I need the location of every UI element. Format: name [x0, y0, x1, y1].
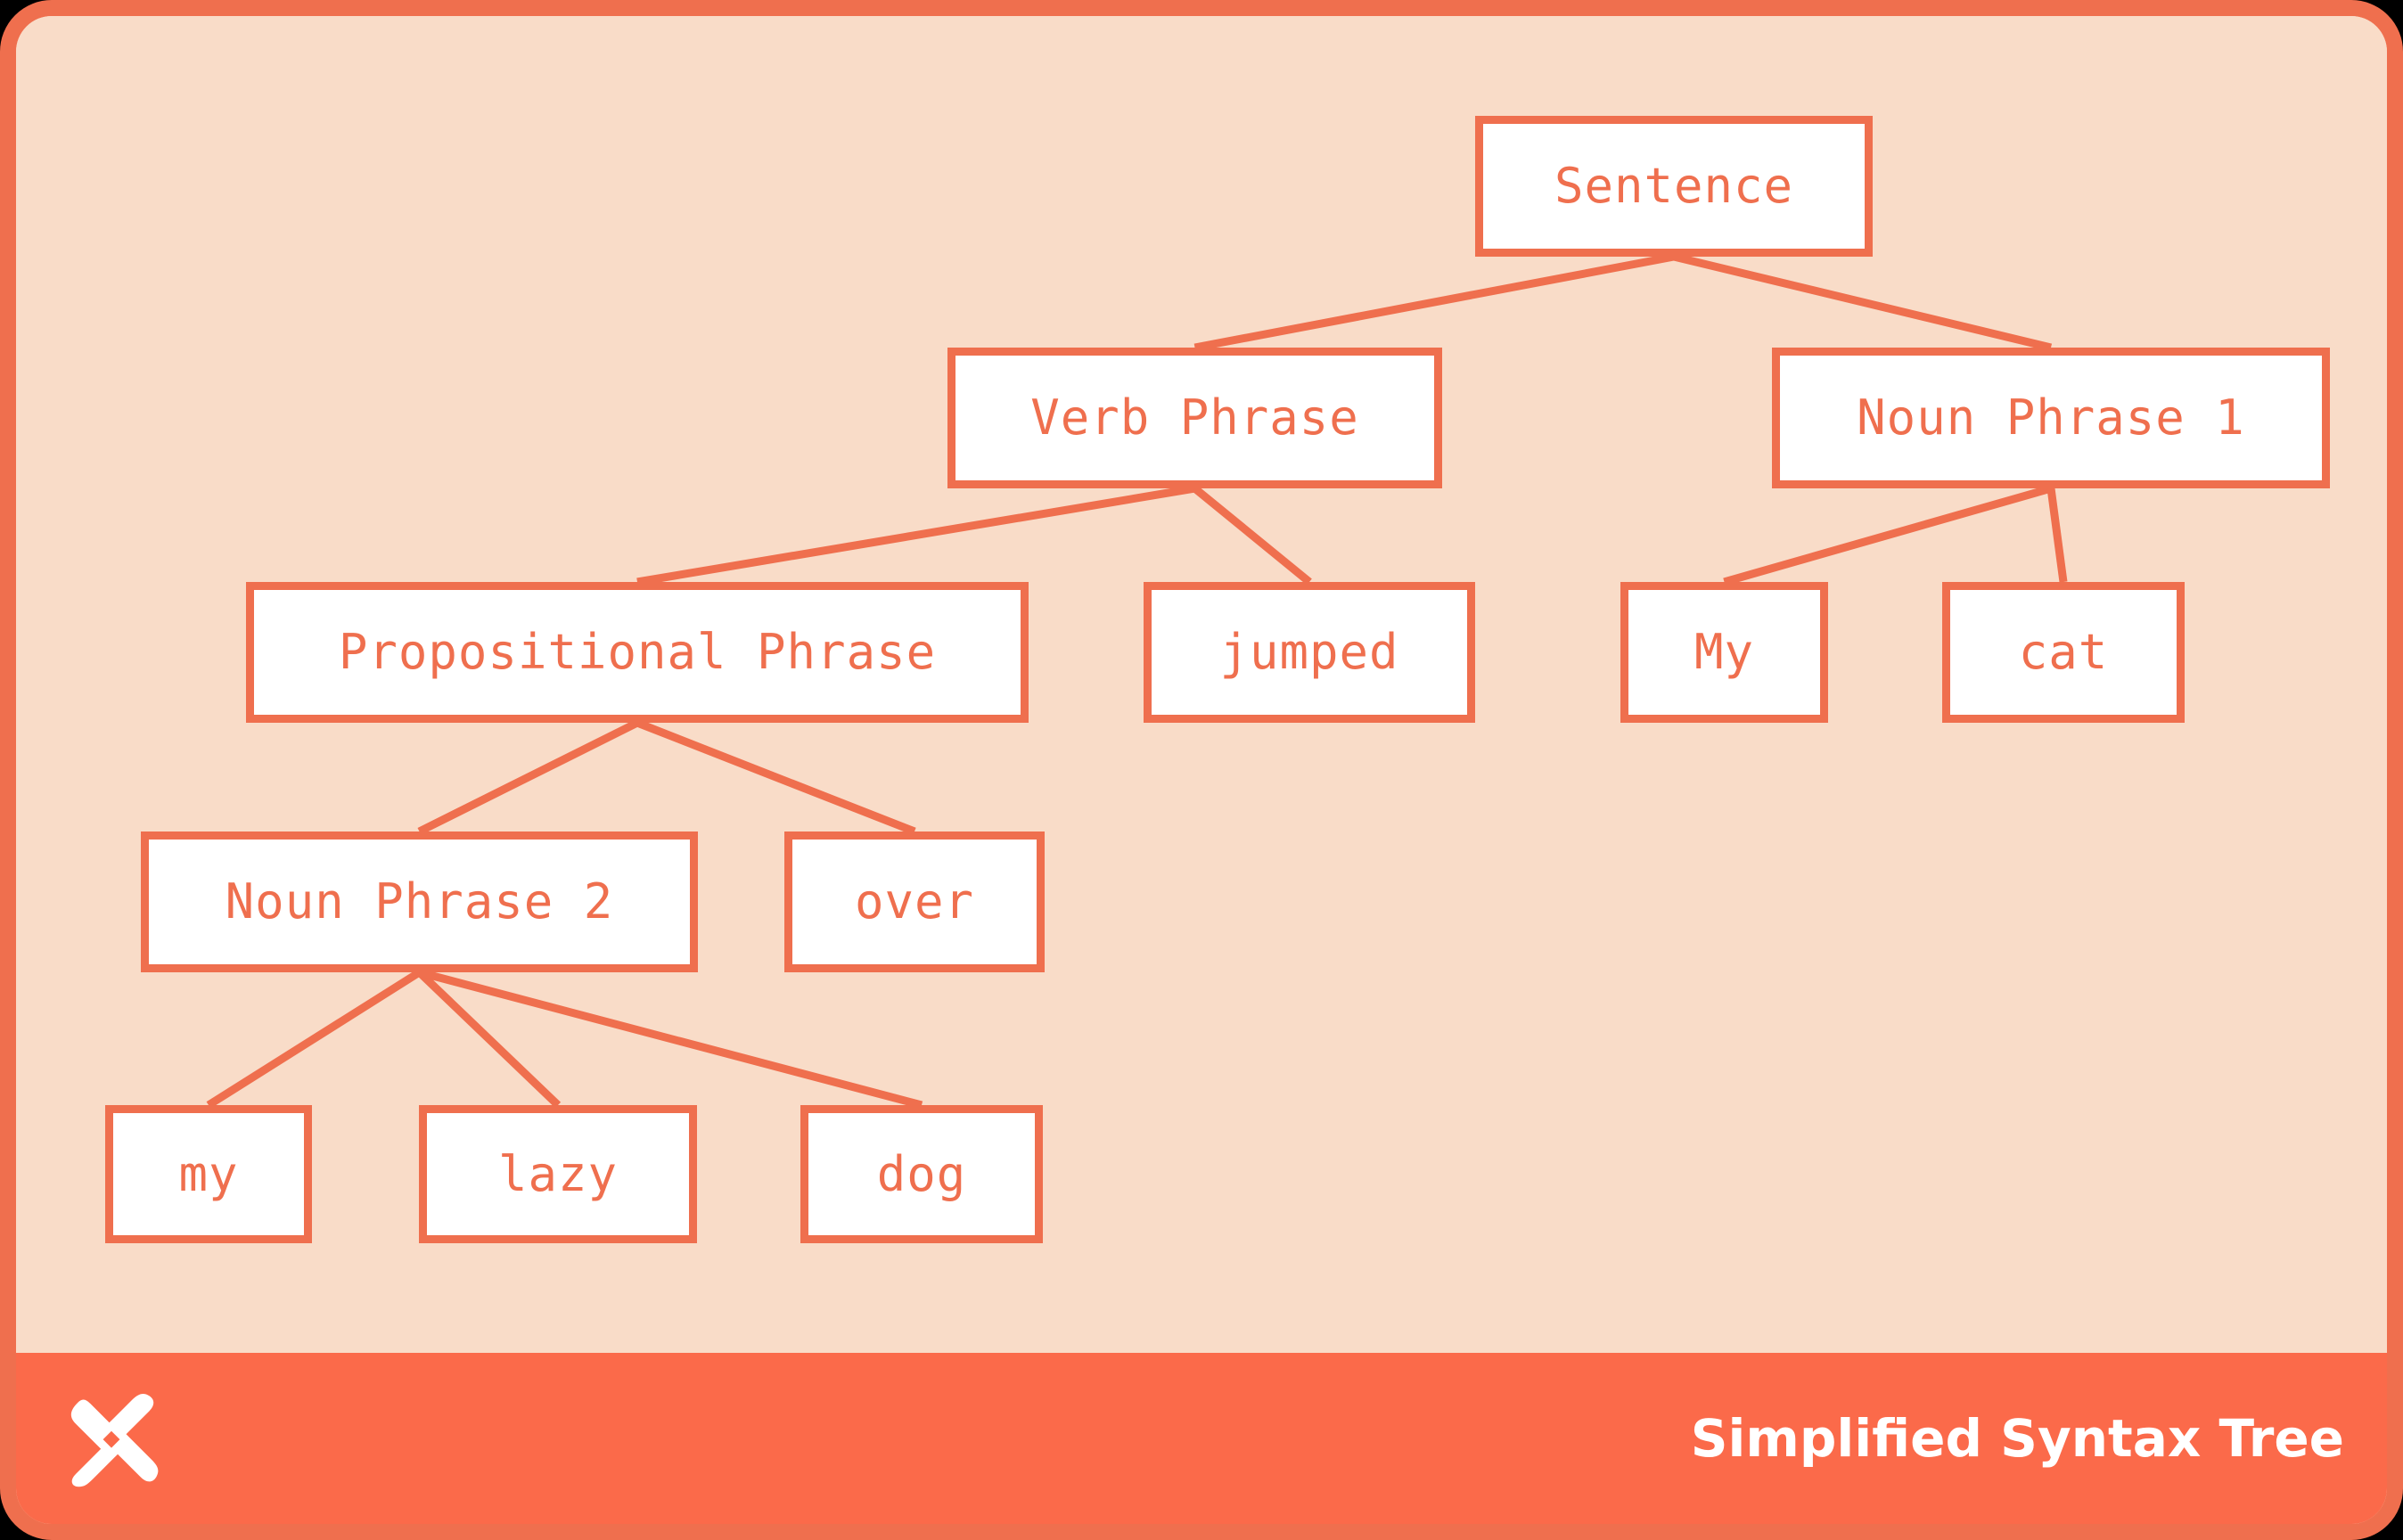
tree-edge-noun_phrase_2-to-my_leaf: [209, 972, 420, 1105]
tree-edge-noun_phrase_2-to-dog: [420, 972, 923, 1105]
tree-node-my_leaf[interactable]: my: [105, 1105, 312, 1243]
footer-brand-bar: Simplified Syntax Tree: [16, 1353, 2387, 1524]
tree-node-lazy[interactable]: lazy: [419, 1105, 697, 1243]
tree-node-my_det[interactable]: My: [1620, 582, 1828, 723]
tree-edge-propositional_phrase-to-noun_phrase_2: [420, 723, 638, 831]
tree-edge-sentence-to-noun_phrase_1: [1674, 257, 2051, 348]
tree-edge-noun_phrase_1-to-my_det: [1725, 488, 2052, 582]
tree-node-label: lazy: [498, 1151, 618, 1199]
tree-node-label: Sentence: [1554, 162, 1793, 210]
tree-node-label: Propositional Phrase: [339, 628, 936, 676]
tree-node-sentence[interactable]: Sentence: [1475, 116, 1873, 257]
tree-edge-verb_phrase-to-propositional_phrase: [637, 488, 1195, 582]
tree-edge-verb_phrase-to-jumped: [1195, 488, 1310, 582]
brand-x-logo-icon: [59, 1386, 164, 1491]
footer-title: Simplified Syntax Tree: [1691, 1408, 2344, 1469]
screenshot-canvas: SentenceVerb PhraseNoun Phrase 1Proposit…: [0, 0, 2403, 1540]
tree-node-label: Verb Phrase: [1030, 394, 1359, 442]
diagram-card: SentenceVerb PhraseNoun Phrase 1Proposit…: [0, 0, 2403, 1540]
tree-node-label: over: [855, 878, 974, 926]
tree-node-label: Noun Phrase 2: [226, 878, 614, 926]
tree-edge-sentence-to-verb_phrase: [1195, 257, 1675, 348]
tree-node-over[interactable]: over: [784, 831, 1045, 972]
tree-node-noun_phrase_2[interactable]: Noun Phrase 2: [141, 831, 698, 972]
tree-node-noun_phrase_1[interactable]: Noun Phrase 1: [1772, 348, 2330, 488]
tree-node-dog[interactable]: dog: [800, 1105, 1043, 1243]
tree-edge-noun_phrase_1-to-cat: [2051, 488, 2063, 582]
tree-node-verb_phrase[interactable]: Verb Phrase: [947, 348, 1442, 488]
tree-node-jumped[interactable]: jumped: [1144, 582, 1475, 723]
tree-node-label: My: [1694, 628, 1754, 676]
tree-node-label: Noun Phrase 1: [1857, 394, 2245, 442]
tree-node-label: dog: [877, 1151, 967, 1199]
tree-node-propositional_phrase[interactable]: Propositional Phrase: [246, 582, 1029, 723]
tree-node-label: cat: [2019, 628, 2109, 676]
tree-edge-propositional_phrase-to-over: [637, 723, 914, 831]
tree-node-label: jumped: [1219, 628, 1398, 676]
tree-node-label: my: [178, 1151, 238, 1199]
tree-node-cat[interactable]: cat: [1942, 582, 2185, 723]
syntax-tree-diagram: SentenceVerb PhraseNoun Phrase 1Proposit…: [16, 16, 2387, 1371]
